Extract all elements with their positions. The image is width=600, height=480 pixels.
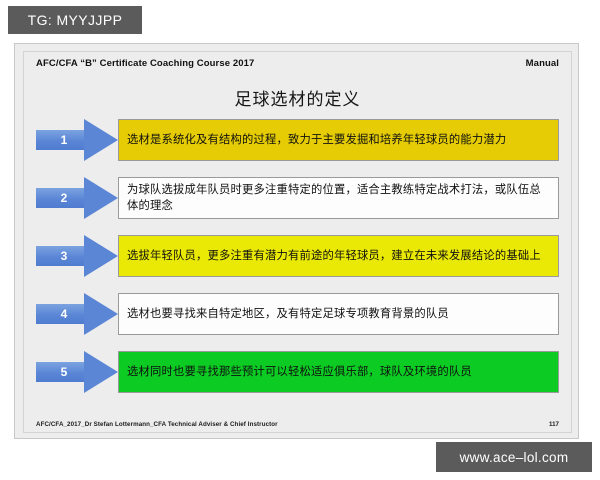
arrow-icon: 4	[36, 293, 118, 335]
arrow-head	[84, 235, 118, 277]
slide-content-area: AFC/CFA “B” Certificate Coaching Course …	[23, 51, 572, 433]
arrow-icon: 1	[36, 119, 118, 161]
list-item: 2 为球队选拔成年队员时更多注重特定的位置，适合主教练特定战术打法，或队伍总体的…	[24, 176, 571, 220]
arrow-icon: 3	[36, 235, 118, 277]
item-number: 2	[54, 188, 74, 208]
slide-frame: AFC/CFA “B” Certificate Coaching Course …	[14, 43, 579, 439]
slide-footer: AFC/CFA_2017_Dr Stefan Lottermann_CFA Te…	[24, 421, 571, 428]
definition-list: 1 选材是系统化及有结构的过程，致力于主要发掘和培养年轻球员的能力潜力 2 为球…	[24, 118, 571, 394]
item-text-box: 选材同时也要寻找那些预计可以轻松适应俱乐部，球队及环境的队员	[118, 351, 559, 393]
list-item: 5 选材同时也要寻找那些预计可以轻松适应俱乐部，球队及环境的队员	[24, 350, 571, 394]
item-text-box: 选拔年轻队员，更多注重有潜力有前途的年轻球员，建立在未来发展结论的基础上	[118, 235, 559, 277]
arrow-head	[84, 351, 118, 393]
watermark-top-left: TG: MYYJJPP	[8, 6, 142, 34]
list-item: 1 选材是系统化及有结构的过程，致力于主要发掘和培养年轻球员的能力潜力	[24, 118, 571, 162]
item-number: 1	[54, 130, 74, 150]
item-text-box: 为球队选拔成年队员时更多注重特定的位置，适合主教练特定战术打法，或队伍总体的理念	[118, 177, 559, 219]
item-number: 3	[54, 246, 74, 266]
arrow-icon: 2	[36, 177, 118, 219]
course-title-label: AFC/CFA “B” Certificate Coaching Course …	[36, 58, 254, 69]
list-item: 3 选拔年轻队员，更多注重有潜力有前途的年轻球员，建立在未来发展结论的基础上	[24, 234, 571, 278]
item-text-box: 选材是系统化及有结构的过程，致力于主要发掘和培养年轻球员的能力潜力	[118, 119, 559, 161]
item-number: 5	[54, 362, 74, 382]
arrow-head	[84, 293, 118, 335]
manual-label: Manual	[526, 58, 559, 69]
arrow-head	[84, 119, 118, 161]
item-text-box: 选材也要寻找来自特定地区，及有特定足球专项教育背景的队员	[118, 293, 559, 335]
slide-header: AFC/CFA “B” Certificate Coaching Course …	[24, 52, 571, 78]
arrow-icon: 5	[36, 351, 118, 393]
watermark-bottom-right: www.ace–lol.com	[436, 442, 592, 472]
footer-attribution: AFC/CFA_2017_Dr Stefan Lottermann_CFA Te…	[36, 421, 278, 428]
page-title: 足球选材的定义	[24, 85, 571, 110]
item-number: 4	[54, 304, 74, 324]
arrow-head	[84, 177, 118, 219]
page-number: 117	[549, 421, 559, 428]
list-item: 4 选材也要寻找来自特定地区，及有特定足球专项教育背景的队员	[24, 292, 571, 336]
